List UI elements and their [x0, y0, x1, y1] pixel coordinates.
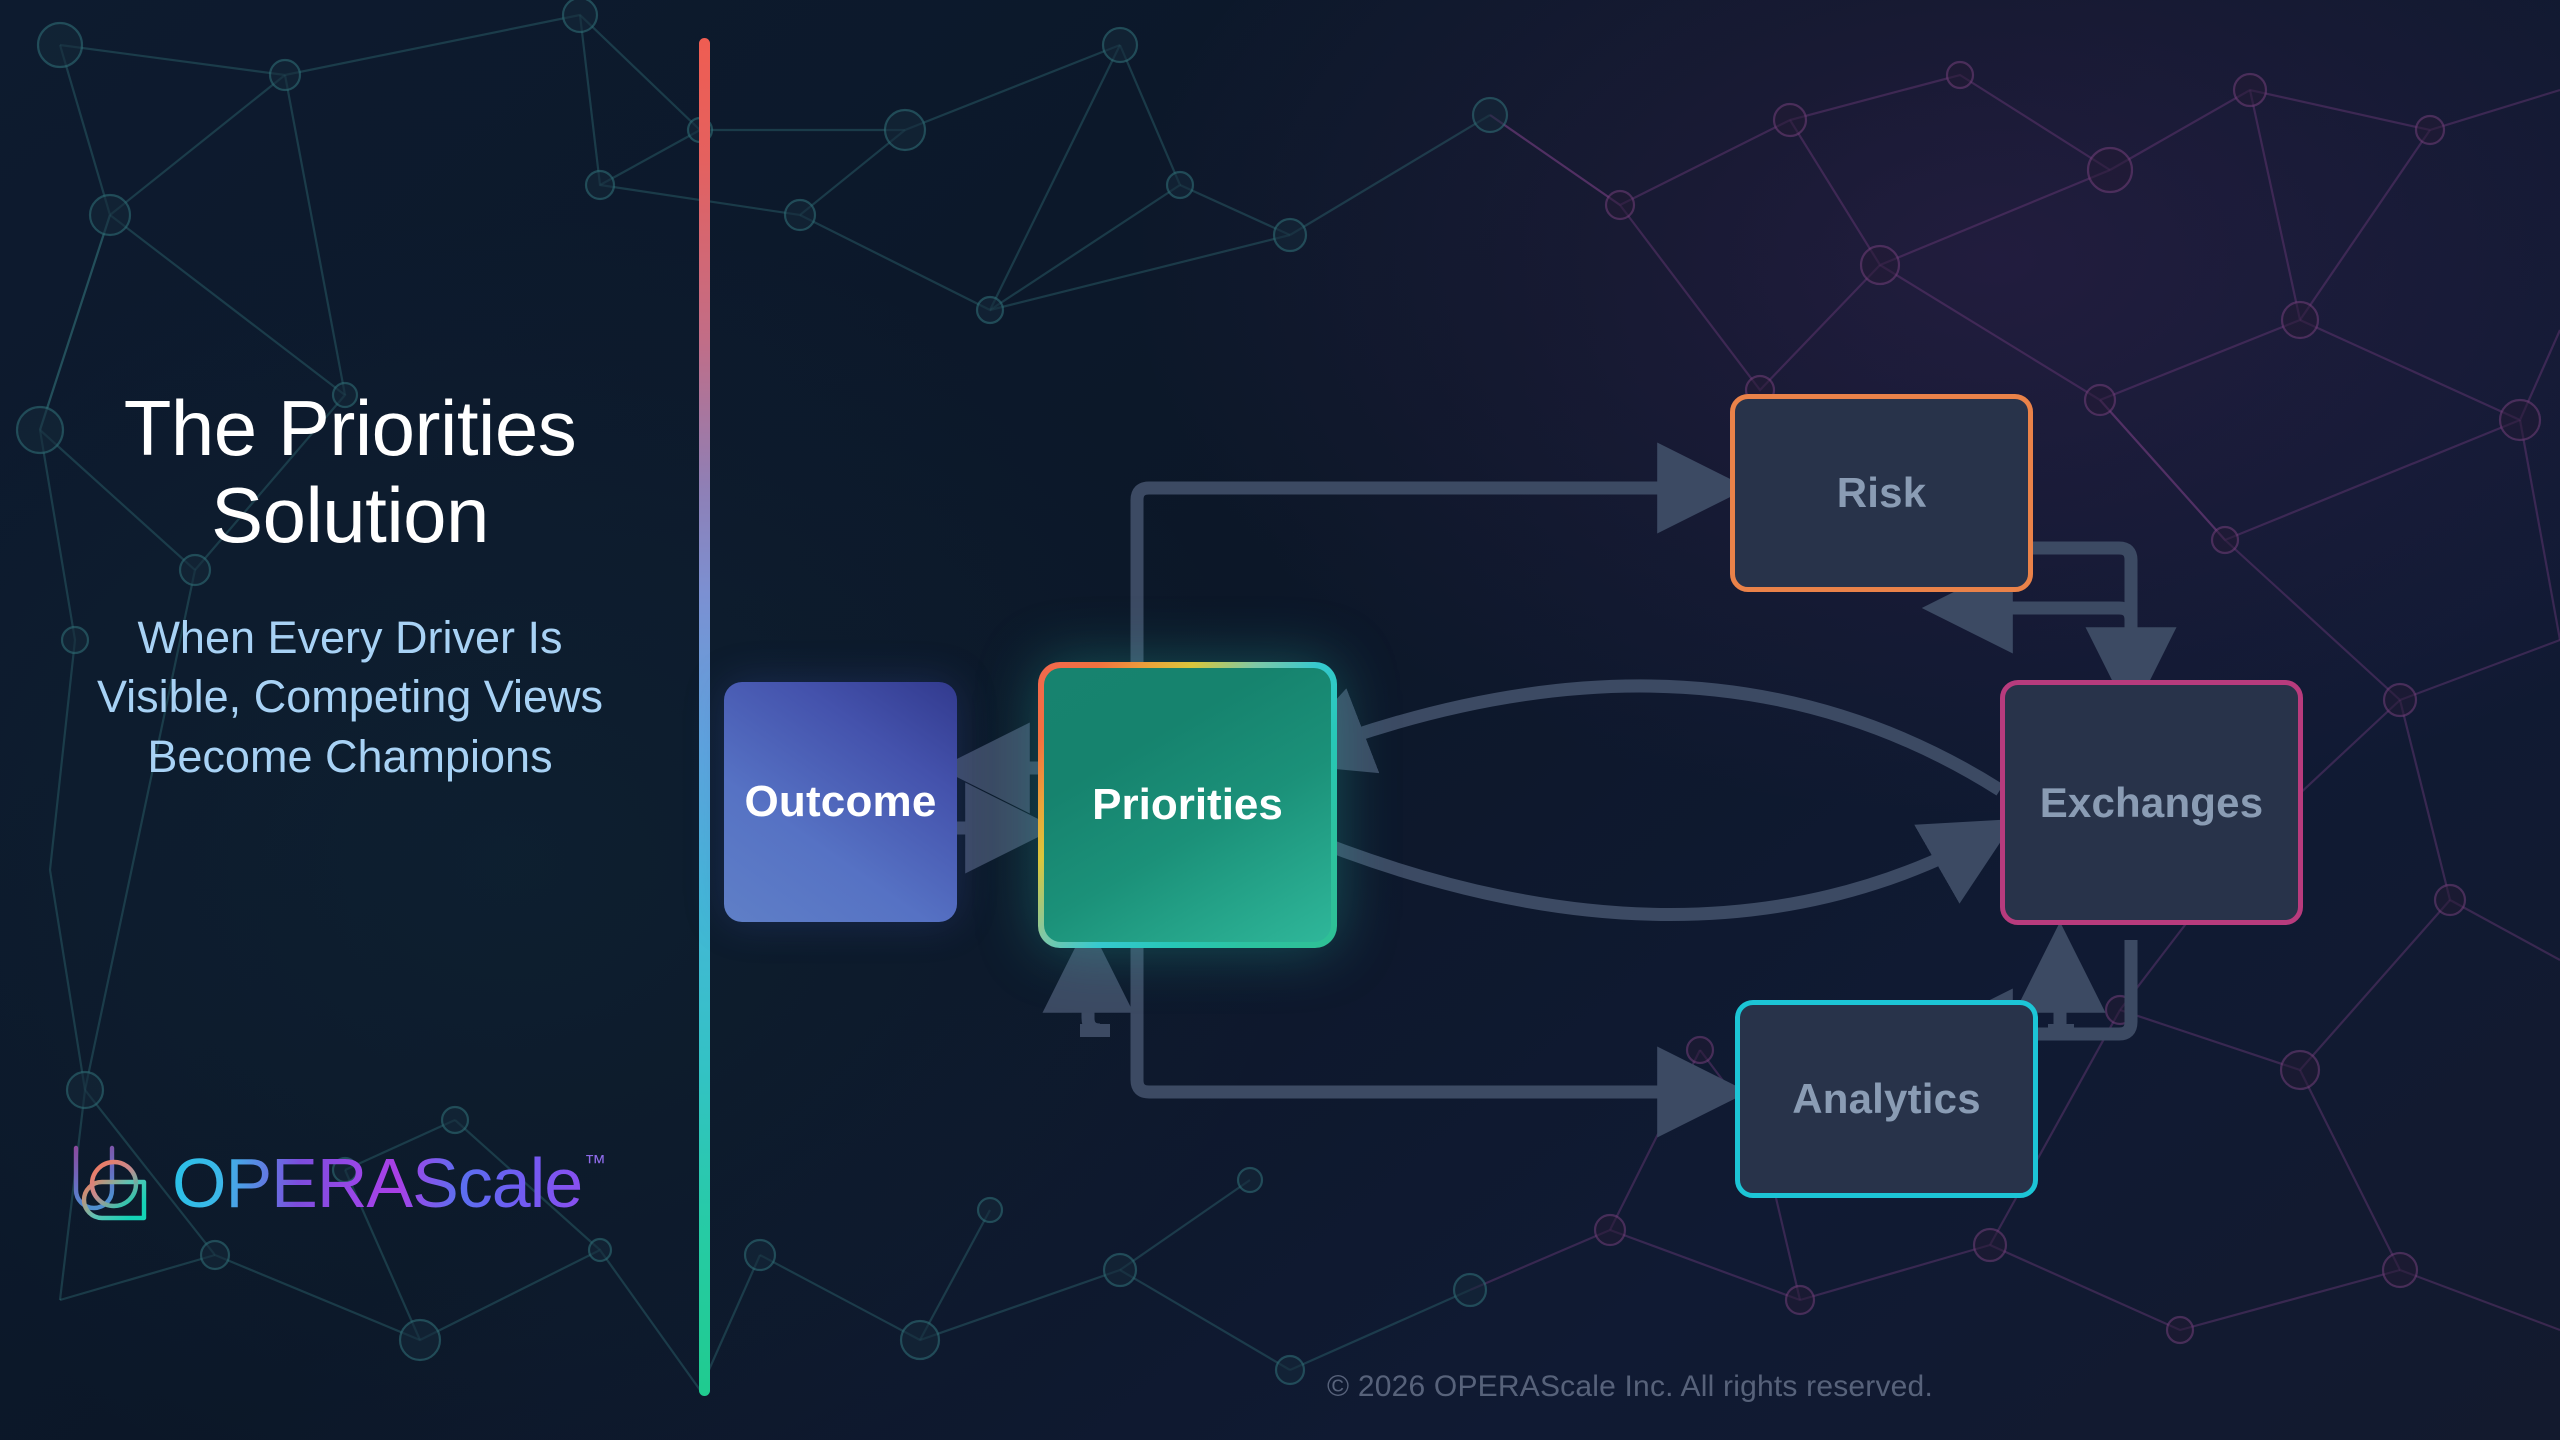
edge-exchanges-risk	[1940, 608, 2131, 620]
node-exchanges[interactable]: Exchanges	[2000, 680, 2303, 925]
edge-exchanges-priorities-curve	[1295, 686, 2000, 790]
node-outcome[interactable]: Outcome	[724, 682, 957, 922]
copyright-footer: © 2026 OPERAScale Inc. All rights reserv…	[700, 1370, 2560, 1404]
left-panel: The Priorities Solution When Every Drive…	[0, 0, 700, 1440]
cycle-diagram: Outcome Priorities Risk Exchanges Analyt…	[700, 0, 2560, 1440]
node-exchanges-label: Exchanges	[2040, 779, 2264, 827]
node-analytics-label: Analytics	[1792, 1075, 1981, 1123]
slide-canvas: The Priorities Solution When Every Drive…	[0, 0, 2560, 1440]
page-title: The Priorities Solution	[40, 385, 660, 560]
node-priorities[interactable]: Priorities	[1038, 662, 1337, 948]
node-analytics[interactable]: Analytics	[1735, 1000, 2038, 1198]
node-priorities-label: Priorities	[1092, 780, 1283, 830]
node-risk[interactable]: Risk	[1730, 394, 2033, 592]
edge-priorities-exchanges-curve	[1290, 828, 2000, 915]
operascale-logo-mark	[70, 1142, 150, 1224]
edge-analytics-priorities	[1088, 940, 1100, 1030]
trademark-symbol: ™	[584, 1152, 606, 1174]
node-outcome-label: Outcome	[744, 777, 936, 827]
logo-wordmark: OPERAScale	[172, 1148, 582, 1218]
node-risk-label: Risk	[1837, 469, 1927, 517]
edge-priorities-analytics	[1137, 940, 1730, 1092]
brand-logo[interactable]: OPERAScale ™	[70, 1142, 606, 1224]
edge-priorities-risk	[1137, 488, 1730, 668]
page-subtitle: When Every Driver Is Visible, Competing …	[70, 608, 630, 786]
